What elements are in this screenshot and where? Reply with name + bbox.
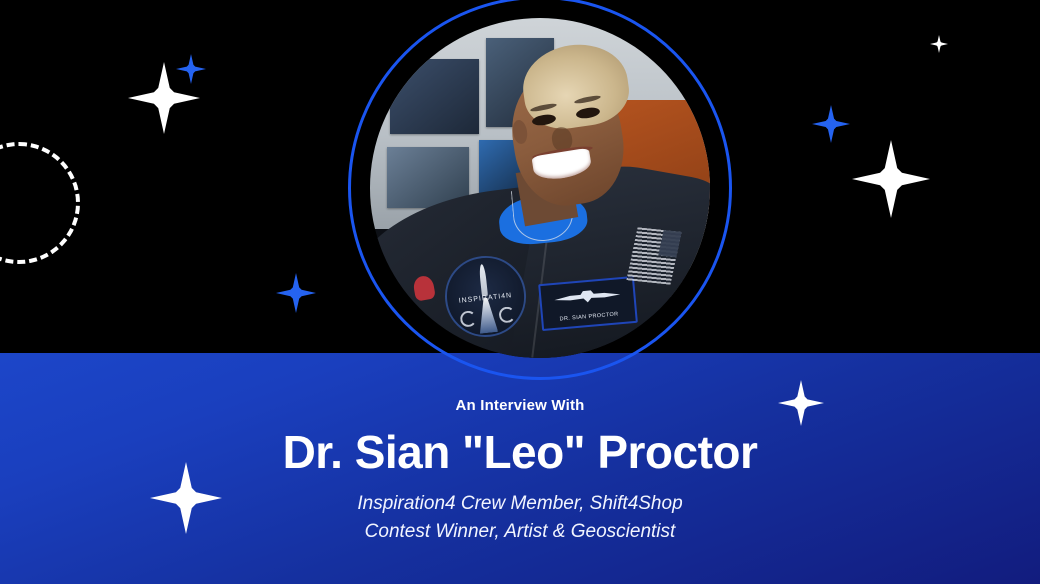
eyebrow-label: An Interview With — [0, 397, 1040, 414]
patch-rocket — [479, 264, 488, 297]
caption-panel: An Interview With Dr. Sian "Leo" Proctor… — [0, 353, 1040, 584]
dashed-circle-ornament-icon — [0, 142, 80, 264]
portrait: INSPIRATI4N DR. SIAN PROCTOR — [348, 0, 732, 380]
caption-text-block: An Interview With Dr. Sian "Leo" Proctor… — [0, 397, 1040, 545]
star-blue-upper-right-icon — [812, 105, 850, 143]
wall-picture — [390, 59, 478, 134]
star-blue-mid-left-icon — [276, 273, 316, 313]
portrait-photo: INSPIRATI4N DR. SIAN PROCTOR — [370, 18, 710, 358]
photo-content: INSPIRATI4N DR. SIAN PROCTOR — [370, 18, 710, 358]
patch-swirl-right — [498, 306, 516, 324]
subtitle-line-2: Contest Winner, Artist & Geoscientist — [0, 518, 1040, 546]
star-white-tiny-right-icon — [930, 35, 948, 53]
name-tag: DR. SIAN PROCTOR — [538, 276, 637, 331]
astronaut-wings-icon — [554, 286, 621, 308]
page-title: Dr. Sian "Leo" Proctor — [0, 428, 1040, 476]
star-white-upper-right-icon — [852, 140, 930, 218]
star-blue-top-left-icon — [176, 54, 206, 84]
interview-banner: An Interview With Dr. Sian "Leo" Proctor… — [0, 0, 1040, 584]
name-tag-label: DR. SIAN PROCTOR — [543, 310, 635, 324]
subtitle-line-1: Inspiration4 Crew Member, Shift4Shop — [0, 490, 1040, 518]
patch-swirl-left — [459, 310, 477, 328]
